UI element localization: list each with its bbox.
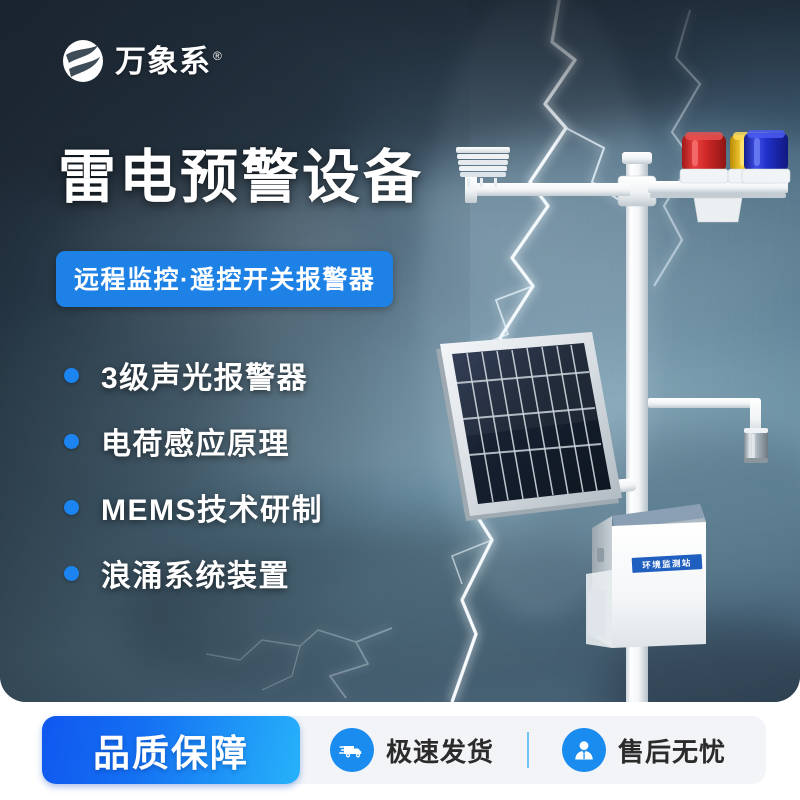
left-cross-arm [465, 176, 630, 203]
trust-divider [527, 732, 529, 768]
page-title: 雷电预警设备 [58, 146, 424, 211]
cylindrical-sensor-icon [744, 428, 768, 463]
feature-item-2: 电荷感应原理 [64, 410, 323, 472]
brand-name-text: 万象系 [115, 44, 211, 79]
trademark-symbol: ® [213, 49, 223, 63]
solar-panel-icon [436, 332, 637, 521]
quality-guarantee-label: 品质保障 [93, 723, 249, 777]
trust-item-after-sales[interactable]: 售后无忧 [562, 716, 726, 784]
feature-label: 3级声光报警器 [101, 353, 308, 397]
feature-item-3: MEMS技术研制 [64, 476, 323, 538]
bullet-dot-icon [64, 566, 79, 581]
louvered-radiation-shield-icon [456, 147, 510, 187]
subtitle-badge: 远程监控·遥控开关报警器 [56, 251, 393, 307]
bullet-dot-icon [64, 368, 79, 383]
feature-item-1: 3级声光报警器 [64, 344, 323, 406]
brand-logo[interactable]: 万象系® [60, 38, 223, 84]
quality-guarantee-badge[interactable]: 品质保障 [42, 716, 300, 784]
alarm-beacon-blue [742, 130, 790, 183]
brand-name: 万象系® [115, 46, 223, 77]
control-box [586, 504, 706, 648]
hero-banner: 环境监测站 万象系® 雷电预警设备 远程监控·遥控开关报警器 3级声光报警器 电… [0, 0, 800, 702]
delivery-truck-icon [330, 728, 374, 772]
feature-label: 电荷感应原理 [101, 419, 290, 463]
feature-item-4: 浪涌系统装置 [64, 542, 323, 604]
feature-label: 浪涌系统装置 [101, 551, 290, 595]
support-agent-icon [562, 728, 606, 772]
trust-bar: 品质保障 极速发货 [0, 702, 800, 800]
trust-item-label: 极速发货 [386, 732, 494, 769]
brand-swoosh-oval-icon [60, 38, 106, 84]
bullet-dot-icon [64, 434, 79, 449]
trust-item-label: 售后无忧 [618, 732, 726, 769]
feature-list: 3级声光报警器 电荷感应原理 MEMS技术研制 浪涌系统装置 [64, 344, 323, 608]
trust-item-fast-shipping[interactable]: 极速发货 [330, 716, 494, 784]
beacon-shelf [648, 181, 788, 222]
bullet-dot-icon [64, 500, 79, 515]
feature-label: MEMS技术研制 [101, 485, 323, 529]
alarm-beacon-red [680, 132, 728, 183]
